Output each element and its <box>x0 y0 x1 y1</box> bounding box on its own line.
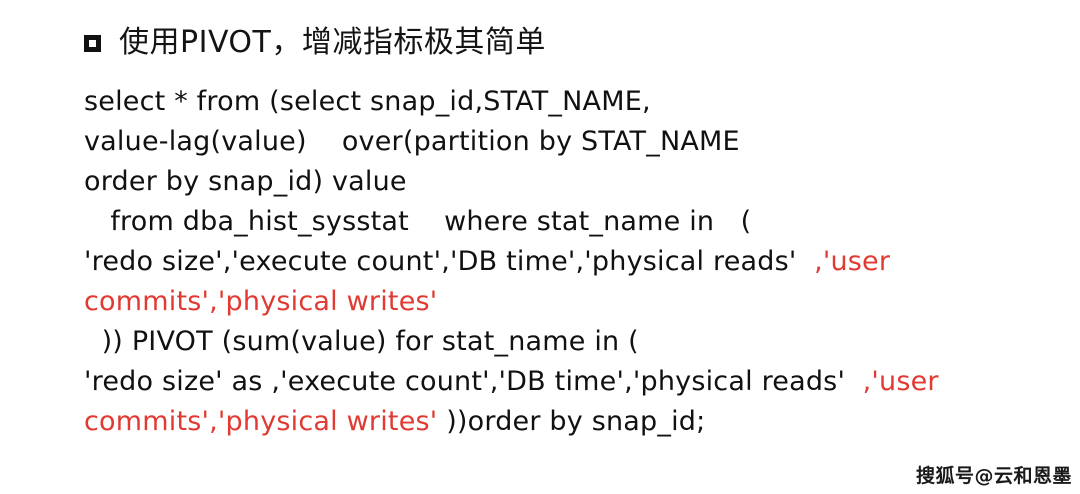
code-segment-highlight: ,'user <box>814 246 890 277</box>
code-line: from dba_hist_sysstat where stat_name in… <box>84 202 1074 242</box>
code-segment: 'redo size','execute count','DB time','p… <box>84 246 814 277</box>
sql-code-block: select * from (select snap_id,STAT_NAME,… <box>84 82 1074 442</box>
code-line: value-lag(value) over(partition by STAT_… <box>84 122 1074 162</box>
code-line: 'redo size','execute count','DB time','p… <box>84 242 1074 282</box>
code-line: commits','physical writes' <box>84 282 1074 322</box>
page-title: 使用PIVOT，增减指标极其简单 <box>119 26 546 60</box>
code-line: 'redo size' as ,'execute count','DB time… <box>84 362 1074 402</box>
code-segment: ))order by snap_id; <box>446 406 705 437</box>
code-segment: from dba_hist_sysstat where stat_name in… <box>84 206 751 237</box>
code-segment: )) PIVOT (sum(value) for stat_name in ( <box>84 326 639 357</box>
code-segment-highlight: commits','physical writes' <box>84 406 446 437</box>
hollow-square-bullet-icon <box>84 35 101 52</box>
code-line: )) PIVOT (sum(value) for stat_name in ( <box>84 322 1074 362</box>
code-segment-highlight: ,'user <box>863 366 939 397</box>
code-line: order by snap_id) value <box>84 162 1074 202</box>
code-segment: order by snap_id) value <box>84 166 407 197</box>
code-line: commits','physical writes' ))order by sn… <box>84 402 1074 442</box>
code-segment-highlight: commits','physical writes' <box>84 286 437 317</box>
code-segment: select * from (select snap_id,STAT_NAME, <box>84 86 651 117</box>
watermark: 客 搜狐号@云和恩墨 <box>916 461 1072 488</box>
watermark-label: 搜狐号@云和恩墨 <box>916 461 1072 488</box>
slide-title: 使用PIVOT，增减指标极其简单 <box>84 26 546 60</box>
slide-canvas: 使用PIVOT，增减指标极其简单 select * from (select s… <box>0 0 1080 494</box>
code-line: select * from (select snap_id,STAT_NAME, <box>84 82 1074 122</box>
code-segment: 'redo size' as ,'execute count','DB time… <box>84 366 863 397</box>
code-segment: value-lag(value) over(partition by STAT_… <box>84 126 740 157</box>
